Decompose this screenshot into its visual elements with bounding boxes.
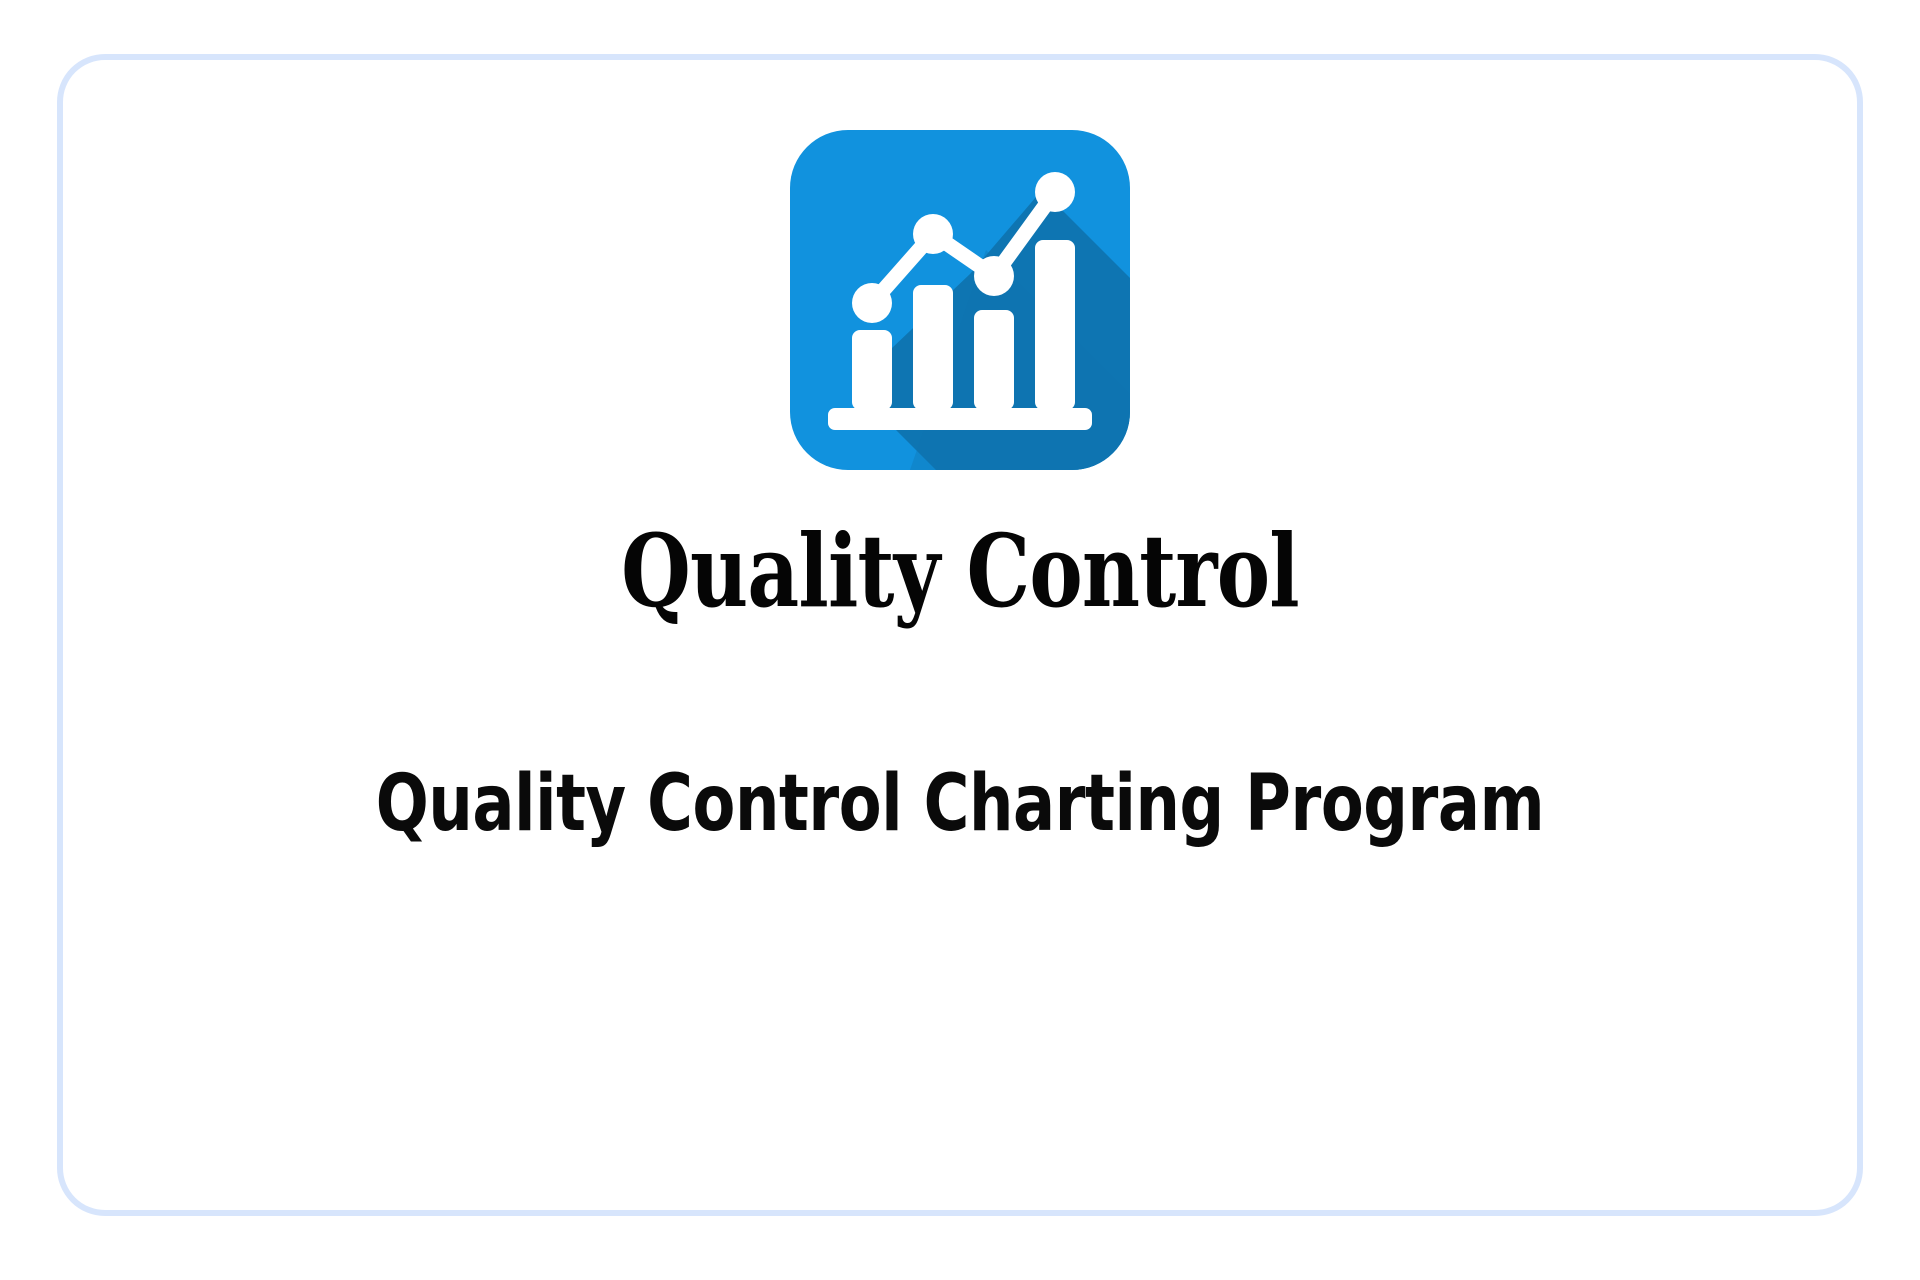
bar-line-chart-app-icon: [790, 130, 1130, 470]
app-subtitle: Quality Control Charting Program: [242, 760, 1677, 850]
icon-bar-4: [1035, 240, 1075, 410]
app-icon[interactable]: [790, 130, 1130, 470]
icon-axis-baseline: [828, 408, 1092, 430]
app-card: Quality Control Quality Control Charting…: [57, 54, 1863, 1216]
icon-bar-1: [852, 330, 892, 410]
icon-bar-2: [913, 285, 953, 410]
icon-trend-point-3: [974, 256, 1014, 296]
icon-bar-3: [974, 310, 1014, 410]
icon-trend-point-2: [913, 214, 953, 254]
app-showcase-page: Quality Control Quality Control Charting…: [0, 0, 1920, 1280]
icon-trend-point-4: [1035, 172, 1075, 212]
icon-trend-point-1: [852, 283, 892, 323]
app-title: Quality Control: [242, 516, 1677, 626]
